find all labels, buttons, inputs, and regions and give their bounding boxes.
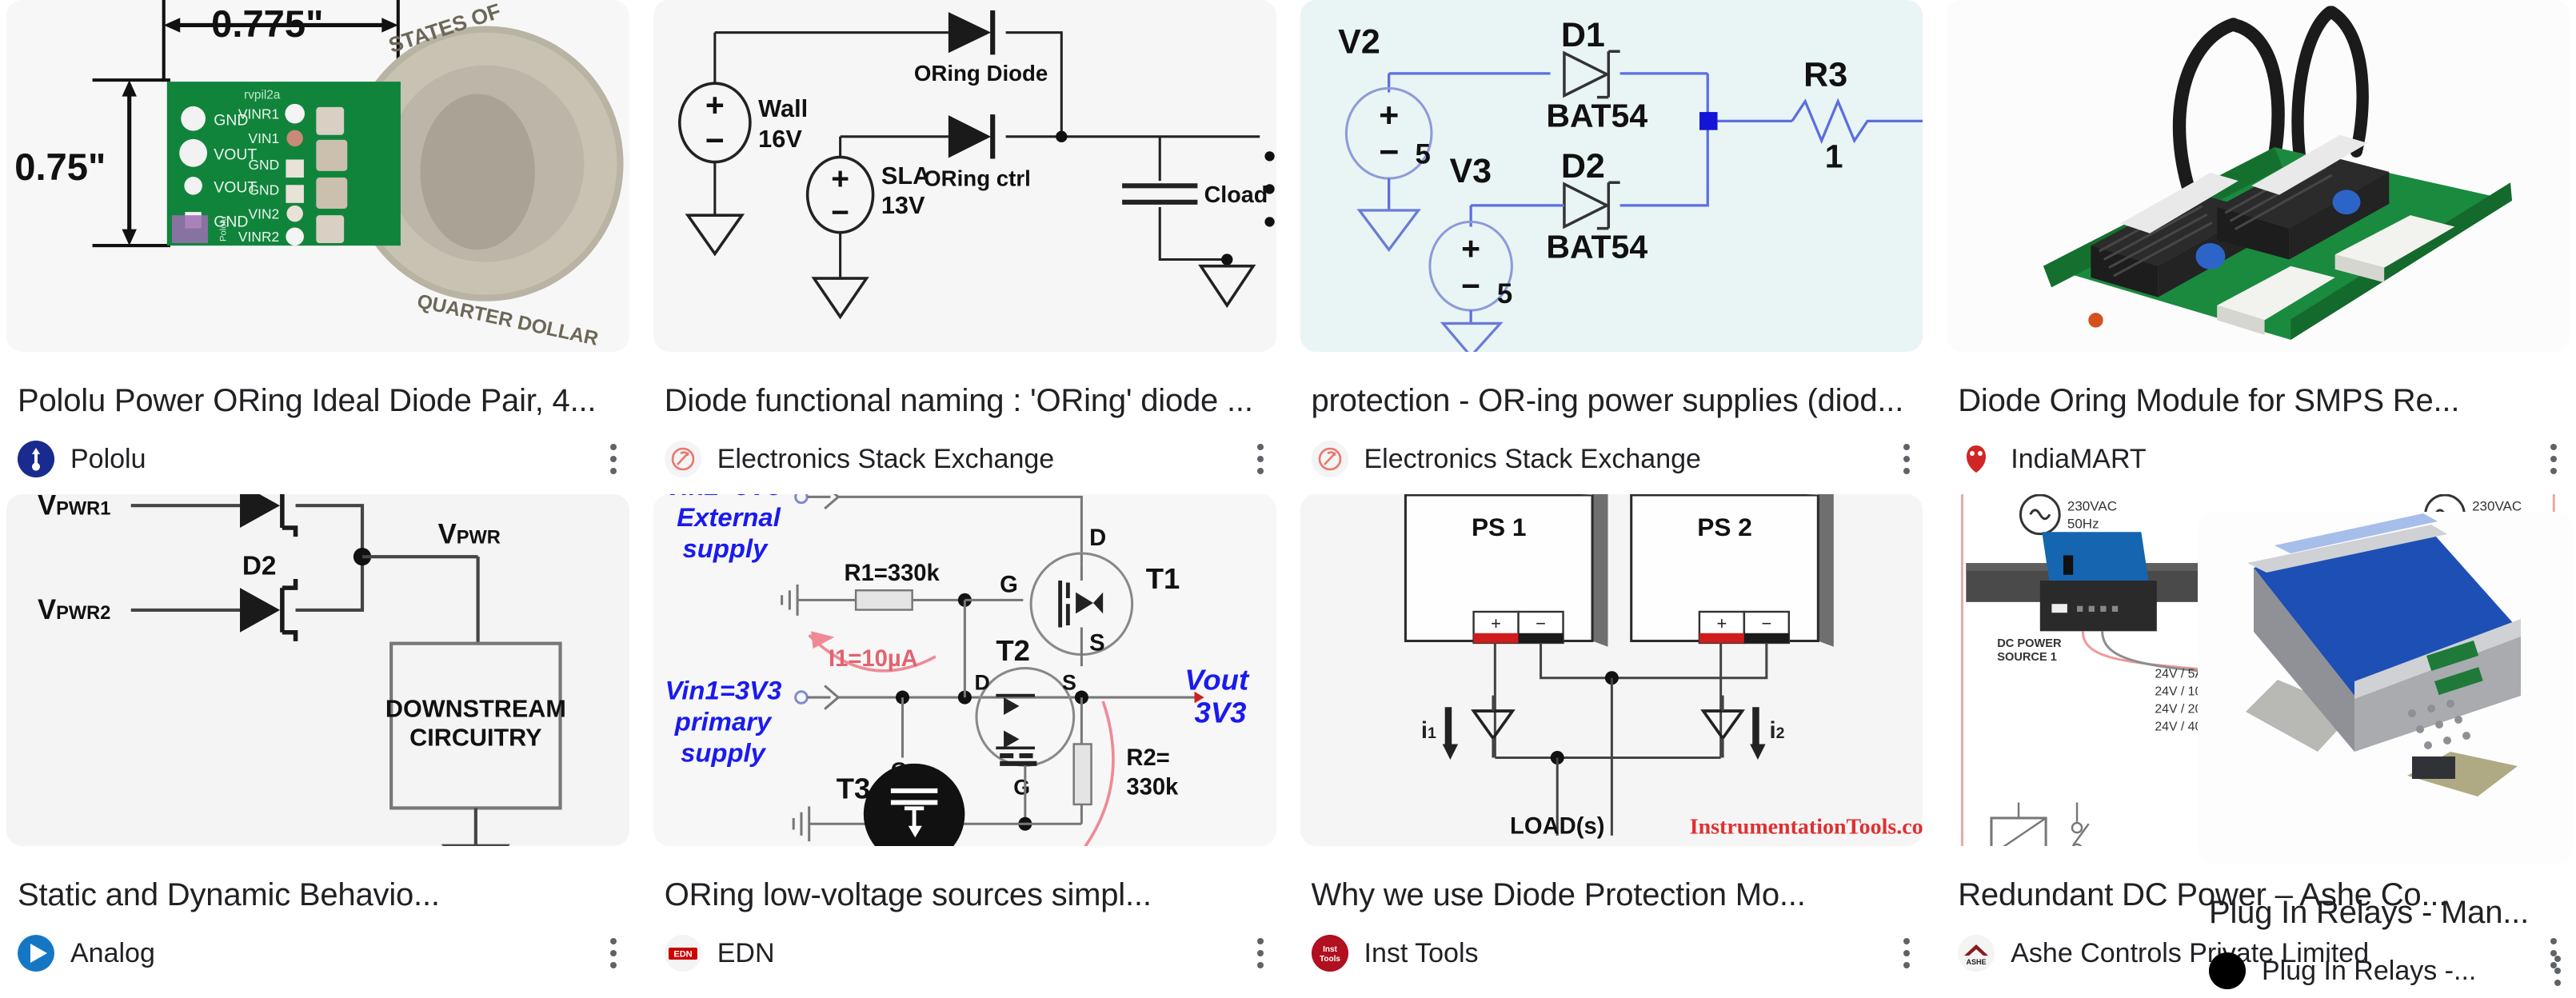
source-name[interactable]: EDN bbox=[717, 937, 1233, 969]
svg-text:VPWR1: VPWR1 bbox=[38, 494, 110, 521]
result-title[interactable]: Static and Dynamic Behavio... bbox=[18, 875, 625, 915]
result-attribution: Plug In Relays -... bbox=[2209, 948, 2574, 993]
image-result-card[interactable]: ORing Diode + − Wall 16V ORing ctrl bbox=[653, 0, 1276, 494]
mosfet-oring-image: Vin2=3V3 External supply D R1=330k G bbox=[653, 494, 1276, 846]
source-name[interactable]: Plug In Relays -... bbox=[2262, 955, 2530, 987]
svg-text:+: + bbox=[1461, 230, 1480, 267]
svg-text:S: S bbox=[1062, 670, 1076, 694]
svg-text:I1=10µA: I1=10µA bbox=[829, 646, 918, 672]
result-title[interactable]: Diode functional naming : 'ORing' diode … bbox=[665, 381, 1272, 421]
pcb-quarter-image: 0.775" 0.75" STATES OF QUARTER DOLLAR rv… bbox=[6, 0, 629, 352]
svg-text:+: + bbox=[1491, 613, 1501, 633]
vpwr-schematic-image: VPWR1 D1 VPWR2 D2 VPWR DOWNSTREAM bbox=[6, 494, 629, 846]
svg-text:0.775": 0.775" bbox=[211, 2, 323, 45]
source-name[interactable]: Analog bbox=[70, 937, 586, 969]
svg-text:ORing ctrl: ORing ctrl bbox=[924, 166, 1031, 190]
source-favicon-icon bbox=[18, 441, 54, 477]
svg-text:D2: D2 bbox=[1560, 147, 1604, 186]
svg-text:Tools: Tools bbox=[1320, 955, 1340, 964]
result-thumbnail-pololu-power-oring[interactable]: 0.775" 0.75" STATES OF QUARTER DOLLAR rv… bbox=[6, 0, 629, 352]
svg-text:−: − bbox=[1536, 613, 1546, 633]
svg-text:5: 5 bbox=[1415, 139, 1430, 170]
svg-text:13V: 13V bbox=[881, 191, 925, 219]
source-favicon-icon: ASHE bbox=[1958, 935, 1995, 972]
result-attribution: InstTools Inst Tools bbox=[1312, 931, 1923, 976]
svg-text:5: 5 bbox=[1496, 278, 1512, 309]
svg-text:rvpil2a: rvpil2a bbox=[244, 89, 281, 102]
svg-text:PS 1: PS 1 bbox=[1471, 513, 1526, 541]
svg-text:Vin1=3V3: Vin1=3V3 bbox=[665, 676, 781, 705]
svg-text:R2=: R2= bbox=[1126, 745, 1169, 771]
svg-text:Wall: Wall bbox=[758, 94, 808, 122]
source-name[interactable]: Electronics Stack Exchange bbox=[1364, 443, 1880, 475]
svg-text:Cload: Cload bbox=[1204, 182, 1268, 208]
svg-text:Vin2=3V3: Vin2=3V3 bbox=[665, 494, 781, 501]
svg-text:−: − bbox=[705, 122, 725, 158]
svg-text:R3: R3 bbox=[1803, 55, 1847, 94]
svg-text:GND: GND bbox=[249, 182, 280, 198]
svg-text:D1: D1 bbox=[1560, 16, 1604, 54]
svg-text:G: G bbox=[1013, 776, 1030, 800]
result-attribution: Electronics Stack Exchange bbox=[665, 437, 1276, 481]
image-result-card[interactable]: V2 + − 5 D1 BAT54 D2 bbox=[1300, 0, 1923, 494]
svg-text:D: D bbox=[1089, 525, 1106, 551]
result-thumbnail-static-dynamic-behavior[interactable]: VPWR1 D1 VPWR2 D2 VPWR DOWNSTREAM bbox=[6, 494, 629, 846]
result-options-menu-icon[interactable] bbox=[597, 932, 629, 974]
source-name[interactable]: Electronics Stack Exchange bbox=[717, 443, 1233, 475]
image-result-card[interactable]: Diode Oring Module for SMPS Re... IndiaM… bbox=[1947, 0, 2570, 494]
svg-text:VIN1: VIN1 bbox=[249, 130, 280, 146]
svg-text:External: External bbox=[677, 502, 781, 532]
source-favicon-icon bbox=[665, 441, 701, 477]
svg-text:VINR2: VINR2 bbox=[238, 229, 279, 245]
svg-text:DC POWER: DC POWER bbox=[1998, 637, 2063, 650]
svg-text:330k: 330k bbox=[1126, 775, 1179, 800]
svg-text:V3: V3 bbox=[1449, 152, 1492, 190]
svg-text:LOAD(s): LOAD(s) bbox=[1510, 813, 1604, 839]
result-options-menu-icon[interactable] bbox=[1244, 932, 1276, 974]
result-thumbnail-why-diode-protection-module[interactable]: PS 1 + − PS 2 + − bbox=[1300, 494, 1923, 846]
svg-text:ORing Diode: ORing Diode bbox=[914, 61, 1048, 86]
svg-text:DOWNSTREAM: DOWNSTREAM bbox=[385, 695, 566, 722]
svg-text:−: − bbox=[1379, 134, 1399, 172]
image-result-card[interactable]: 0.775" 0.75" STATES OF QUARTER DOLLAR rv… bbox=[6, 0, 629, 494]
svg-text:BAT54: BAT54 bbox=[1546, 98, 1647, 134]
svg-text:50Hz: 50Hz bbox=[2067, 516, 2099, 531]
green-pcb-heatsink-image bbox=[1947, 0, 2570, 352]
result-thumbnail-oring-low-voltage-sources[interactable]: Vin2=3V3 External supply D R1=330k G bbox=[653, 494, 1276, 846]
result-attribution: Analog bbox=[18, 931, 629, 976]
svg-text:R1=330k: R1=330k bbox=[844, 561, 940, 586]
din-rail-supply-image bbox=[2198, 512, 2574, 864]
image-result-card[interactable]: VPWR1 D1 VPWR2 D2 VPWR DOWNSTREAM bbox=[6, 494, 629, 998]
svg-text:GND: GND bbox=[249, 157, 280, 173]
svg-text:+: + bbox=[831, 162, 849, 196]
svg-text:T2: T2 bbox=[996, 634, 1030, 667]
image-result-card[interactable]: PS 1 + − PS 2 + − bbox=[1300, 494, 1923, 998]
svg-text:G: G bbox=[1000, 573, 1018, 598]
result-title[interactable]: Why we use Diode Protection Mo... bbox=[1312, 875, 1919, 915]
svg-text:PS 2: PS 2 bbox=[1697, 513, 1752, 541]
result-options-menu-icon[interactable] bbox=[1891, 932, 1923, 974]
result-options-menu-icon[interactable] bbox=[2542, 950, 2574, 992]
svg-text:S: S bbox=[1089, 631, 1104, 657]
result-options-menu-icon[interactable] bbox=[1891, 438, 1923, 480]
ltspice-blue-image: V2 + − 5 D1 BAT54 D2 bbox=[1300, 0, 1923, 352]
oring-schematic-bw-image: ORing Diode + − Wall 16V ORing ctrl bbox=[653, 0, 1276, 352]
result-options-menu-icon[interactable] bbox=[2538, 438, 2570, 480]
svg-text:3V3: 3V3 bbox=[1194, 697, 1246, 729]
svg-text:230VAC: 230VAC bbox=[2067, 498, 2117, 513]
result-thumbnail-diode-functional-naming[interactable]: ORing Diode + − Wall 16V ORing ctrl bbox=[653, 0, 1276, 352]
svg-text:Inst: Inst bbox=[1323, 945, 1337, 954]
result-options-menu-icon[interactable] bbox=[1244, 438, 1276, 480]
svg-text:Pololu: Pololu bbox=[219, 217, 229, 242]
image-result-card-partial[interactable]: Plug In Relays - Man... Plug In Relays -… bbox=[2198, 512, 2574, 993]
svg-text:CIRCUITRY: CIRCUITRY bbox=[409, 725, 541, 752]
svg-text:BAT54: BAT54 bbox=[1546, 228, 1647, 265]
image-result-card[interactable]: Vin2=3V3 External supply D R1=330k G bbox=[653, 494, 1276, 998]
result-attribution: IndiaMART bbox=[1958, 437, 2570, 481]
source-favicon-icon: EDN bbox=[665, 935, 701, 972]
svg-text:VINR1: VINR1 bbox=[238, 106, 279, 122]
source-favicon-icon bbox=[2209, 952, 2246, 989]
svg-text:−: − bbox=[1461, 268, 1480, 305]
result-title[interactable]: ORing low-voltage sources simpl... bbox=[665, 875, 1272, 915]
source-name[interactable]: Inst Tools bbox=[1364, 937, 1880, 969]
source-favicon-icon bbox=[1312, 441, 1348, 477]
ps-redundant-image: PS 1 + − PS 2 + − bbox=[1300, 494, 1923, 846]
svg-text:24V / 5A: 24V / 5A bbox=[2155, 668, 2204, 681]
source-favicon-icon: InstTools bbox=[1312, 935, 1348, 972]
svg-text:ASHE: ASHE bbox=[1967, 958, 1987, 966]
svg-text:SOURCE 1: SOURCE 1 bbox=[1998, 651, 2058, 664]
source-favicon-icon bbox=[18, 935, 54, 972]
result-title[interactable]: Diode Oring Module for SMPS Re... bbox=[1958, 381, 2565, 421]
svg-text:+: + bbox=[705, 86, 725, 123]
svg-text:D: D bbox=[974, 670, 989, 694]
svg-text:+: + bbox=[1379, 97, 1399, 135]
result-thumbnail-diode-oring-module-smps[interactable] bbox=[1947, 0, 2570, 352]
svg-text:supply: supply bbox=[682, 533, 769, 563]
result-attribution: Electronics Stack Exchange bbox=[1312, 437, 1923, 481]
svg-text:EDN: EDN bbox=[673, 950, 692, 960]
svg-text:supply: supply bbox=[681, 737, 767, 767]
svg-text:InstrumentationTools.com: InstrumentationTools.com bbox=[1689, 814, 1923, 839]
svg-text:T3: T3 bbox=[837, 772, 871, 805]
result-title[interactable]: protection - OR-ing power supplies (diod… bbox=[1312, 381, 1919, 421]
svg-text:0.75": 0.75" bbox=[14, 146, 106, 188]
source-name[interactable]: Pololu bbox=[70, 443, 586, 475]
result-attribution: EDN EDN bbox=[665, 931, 1276, 976]
svg-text:SLA: SLA bbox=[881, 162, 930, 190]
result-thumbnail-plug-in-relays[interactable] bbox=[2198, 512, 2574, 864]
image-results-grid: 0.775" 0.75" STATES OF QUARTER DOLLAR rv… bbox=[0, 0, 2576, 998]
svg-text:−: − bbox=[831, 195, 849, 230]
svg-text:V2: V2 bbox=[1338, 22, 1380, 61]
svg-text:−: − bbox=[1761, 613, 1771, 633]
svg-text:T1: T1 bbox=[1145, 562, 1180, 595]
svg-text:VIN2: VIN2 bbox=[249, 206, 280, 222]
result-attribution: Pololu bbox=[18, 437, 629, 481]
result-title[interactable]: Pololu Power ORing Ideal Diode Pair, 4..… bbox=[18, 381, 625, 421]
svg-text:D2: D2 bbox=[242, 551, 277, 581]
result-title[interactable]: Plug In Relays - Man... bbox=[2209, 892, 2569, 932]
result-thumbnail-or-ing-power-supplies[interactable]: V2 + − 5 D1 BAT54 D2 bbox=[1300, 0, 1923, 352]
svg-text:+: + bbox=[1716, 613, 1727, 633]
svg-text:primary: primary bbox=[674, 706, 773, 736]
result-options-menu-icon[interactable] bbox=[597, 438, 629, 480]
svg-text:1: 1 bbox=[1824, 138, 1843, 175]
source-name[interactable]: IndiaMART bbox=[2011, 443, 2526, 475]
source-favicon-icon bbox=[1958, 441, 1995, 477]
svg-text:16V: 16V bbox=[758, 125, 802, 153]
svg-text:Vout: Vout bbox=[1184, 663, 1250, 696]
